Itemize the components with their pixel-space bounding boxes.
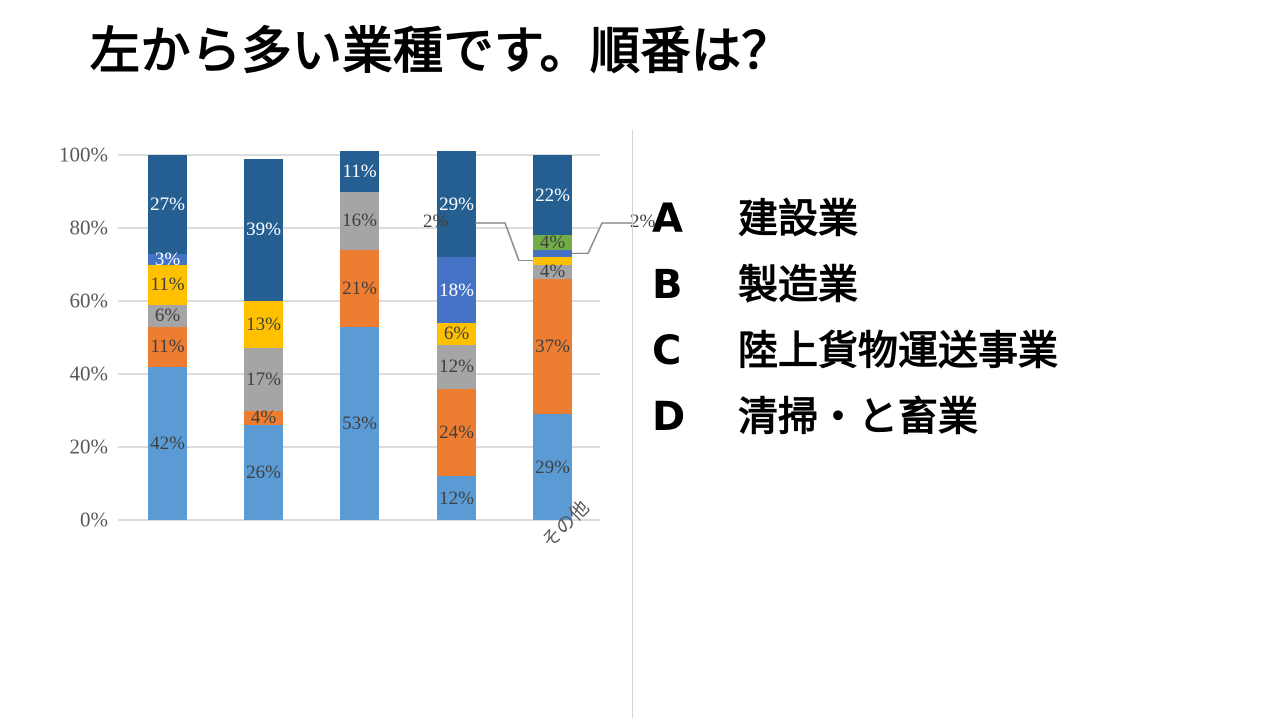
bar-segment-medium-blue[interactable] bbox=[533, 250, 572, 257]
chart-stacked-bar: 0%20%40%60%80%100% 27%3%11%6%11%42%39%13… bbox=[0, 0, 632, 720]
bar-column[interactable]: 11%16%21%53% bbox=[340, 151, 379, 520]
y-axis-tick-label: 0% bbox=[30, 508, 108, 533]
bar-column[interactable]: 27%3%11%6%11%42% bbox=[148, 155, 187, 520]
bar-segment-value-label: 42% bbox=[150, 434, 185, 453]
bar-segment-light-blue[interactable]: 53% bbox=[340, 327, 379, 520]
bar-segment-value-label: 26% bbox=[246, 463, 281, 482]
bar-segment-gray[interactable]: 17% bbox=[244, 348, 283, 410]
bar-segment-value-label: 6% bbox=[444, 324, 469, 343]
vertical-divider bbox=[632, 130, 633, 718]
plot-area: 27%3%11%6%11%42%39%13%17%4%26%11%16%21%5… bbox=[118, 155, 600, 520]
answer-option-b[interactable]: B製造業 bbox=[652, 252, 1252, 304]
bar-segment-medium-blue[interactable]: 3% bbox=[148, 254, 187, 265]
bar-segment-value-label: 21% bbox=[342, 279, 377, 298]
bar-segment-yellow[interactable]: 11% bbox=[148, 265, 187, 305]
answer-option-c[interactable]: C陸上貨物運送事業 bbox=[652, 318, 1252, 370]
bar-segment-gray[interactable]: 12% bbox=[437, 345, 476, 389]
answer-option-label: 清掃・と畜業 bbox=[738, 384, 978, 442]
bar-segment-value-label: 11% bbox=[342, 162, 376, 181]
answer-option-label: 製造業 bbox=[738, 252, 858, 310]
bar-segment-value-label: 17% bbox=[246, 370, 281, 389]
bar-segment-value-label: 37% bbox=[535, 337, 570, 356]
bar-segment-gray[interactable]: 16% bbox=[340, 192, 379, 250]
bar-segment-dark-blue[interactable]: 39% bbox=[244, 159, 283, 301]
bar-segment-orange[interactable]: 4% bbox=[244, 411, 283, 426]
answer-option-key: A bbox=[652, 196, 738, 242]
bar-column[interactable]: 22%4%4%37%29% bbox=[533, 155, 572, 520]
bar-segment-orange[interactable]: 37% bbox=[533, 279, 572, 414]
y-axis-tick-label: 100% bbox=[30, 143, 108, 168]
bar-segment-value-label: 27% bbox=[150, 195, 185, 214]
bar-segment-value-label: 11% bbox=[150, 275, 184, 294]
bar-segment-gray[interactable]: 6% bbox=[148, 305, 187, 327]
bar-column[interactable]: 39%13%17%4%26% bbox=[244, 159, 283, 520]
bar-segment-dark-blue[interactable]: 29% bbox=[437, 151, 476, 257]
bar-segment-yellow[interactable]: 13% bbox=[244, 301, 283, 348]
bar-segment-value-label: 53% bbox=[342, 414, 377, 433]
bar-segment-dark-blue[interactable]: 22% bbox=[533, 155, 572, 235]
bar-segment-value-label: 18% bbox=[439, 281, 474, 300]
bar-segment-yellow[interactable]: 6% bbox=[437, 323, 476, 345]
answer-option-label: 建設業 bbox=[738, 186, 858, 244]
bar-segment-value-label: 12% bbox=[439, 357, 474, 376]
answer-option-d[interactable]: D清掃・と畜業 bbox=[652, 384, 1252, 436]
bar-segment-light-blue[interactable]: 26% bbox=[244, 425, 283, 520]
answer-option-key: C bbox=[652, 328, 738, 374]
y-axis-tick-label: 20% bbox=[30, 435, 108, 460]
bar-segment-light-blue[interactable]: 12% bbox=[437, 476, 476, 520]
y-axis-tick-label: 60% bbox=[30, 289, 108, 314]
bar-segment-medium-blue[interactable]: 18% bbox=[437, 257, 476, 323]
answer-option-key: D bbox=[652, 394, 738, 440]
bar-segment-value-label: 13% bbox=[246, 315, 281, 334]
bar-segment-orange[interactable]: 11% bbox=[148, 327, 187, 367]
bar-segment-green[interactable]: 4% bbox=[533, 235, 572, 250]
bar-segment-dark-blue[interactable]: 27% bbox=[148, 155, 187, 254]
y-axis: 0%20%40%60%80%100% bbox=[20, 155, 108, 520]
answer-option-label: 陸上貨物運送事業 bbox=[738, 318, 1058, 376]
bar-column[interactable]: 29%18%6%12%24%12% bbox=[437, 151, 476, 520]
bar-segment-orange[interactable]: 21% bbox=[340, 250, 379, 327]
bar-segment-value-label: 16% bbox=[342, 211, 377, 230]
bar-segment-value-label: 24% bbox=[439, 423, 474, 442]
bar-segment-orange[interactable]: 24% bbox=[437, 389, 476, 477]
bar-segment-value-label: 39% bbox=[246, 220, 281, 239]
bar-segment-value-label: 22% bbox=[535, 186, 570, 205]
y-axis-tick-label: 40% bbox=[30, 362, 108, 387]
y-axis-tick-label: 80% bbox=[30, 216, 108, 241]
answer-option-a[interactable]: A建設業 bbox=[652, 186, 1252, 238]
bar-segment-value-label: 6% bbox=[155, 306, 180, 325]
bar-segment-value-label: 12% bbox=[439, 489, 474, 508]
answer-options-list: A建設業B製造業C陸上貨物運送事業D清掃・と畜業 bbox=[652, 186, 1252, 450]
bar-segment-value-label: 11% bbox=[150, 337, 184, 356]
bar-segment-gray[interactable]: 4% bbox=[533, 265, 572, 280]
bar-segment-light-blue[interactable]: 42% bbox=[148, 367, 187, 520]
callout-value-label-left: 2% bbox=[423, 211, 448, 233]
bar-segment-yellow[interactable] bbox=[533, 257, 572, 264]
bar-segment-dark-blue[interactable]: 11% bbox=[340, 151, 379, 191]
answer-option-key: B bbox=[652, 262, 738, 308]
bar-segment-value-label: 29% bbox=[535, 458, 570, 477]
